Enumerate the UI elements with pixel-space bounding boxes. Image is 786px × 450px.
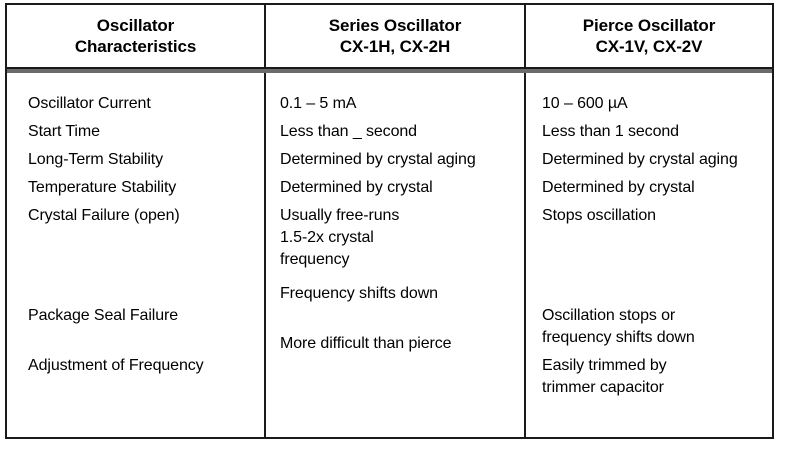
table-header-row: Oscillator Characteristics Series Oscill…: [7, 5, 772, 67]
column-pierce-oscillator: 10 – 600 µA Less than 1 second Determine…: [524, 73, 772, 439]
column-header-line-1: Oscillator: [97, 15, 174, 36]
column-header-line-2: CX-1H, CX-2H: [340, 36, 450, 57]
column-header-line-2: CX-1V, CX-2V: [596, 36, 703, 57]
oscillator-comparison-table: Oscillator Characteristics Series Oscill…: [5, 3, 774, 439]
column-header-series-oscillator: Series Oscillator CX-1H, CX-2H: [264, 5, 524, 67]
column-oscillator-characteristics: Oscillator Current Start Time Long-Term …: [7, 73, 264, 439]
table-cell-pierce-value: 10 – 600 µA: [542, 93, 772, 115]
table-cell-characteristic: Temperature Stability: [28, 177, 264, 199]
table-cell-series-value: Determined by crystal aging: [280, 149, 524, 171]
table-cell-series-value: Usually free-runs 1.5-2x crystal frequen…: [280, 205, 524, 271]
table-cell-series-value: Less than _ second: [280, 121, 524, 143]
column-header-oscillator-characteristics: Oscillator Characteristics: [7, 5, 264, 67]
table-cell-series-value: Determined by crystal: [280, 177, 524, 199]
column-header-line-1: Series Oscillator: [329, 15, 461, 36]
table-cell-characteristic: Package Seal Failure: [28, 305, 264, 327]
column-header-pierce-oscillator: Pierce Oscillator CX-1V, CX-2V: [524, 5, 772, 67]
table-cell-pierce-value: Determined by crystal aging: [542, 149, 772, 171]
table-body: Oscillator Current Start Time Long-Term …: [7, 73, 772, 439]
table-cell-series-value: Frequency shifts down: [280, 283, 524, 305]
column-header-line-1: Pierce Oscillator: [583, 15, 715, 36]
column-series-oscillator: 0.1 – 5 mA Less than _ second Determined…: [264, 73, 524, 439]
table-cell-characteristic: Adjustment of Frequency: [28, 355, 264, 377]
table-cell-series-value: More difficult than pierce: [280, 333, 524, 355]
table-cell-pierce-value: Stops oscillation: [542, 205, 772, 227]
table-cell-pierce-value: Easily trimmed by trimmer capacitor: [542, 355, 772, 399]
table-cell-characteristic: Start Time: [28, 121, 264, 143]
table-cell-pierce-value: Determined by crystal: [542, 177, 772, 199]
table-cell-pierce-value: Oscillation stops or frequency shifts do…: [542, 305, 772, 349]
table-cell-characteristic: Crystal Failure (open): [28, 205, 264, 227]
table-cell-pierce-value: Less than 1 second: [542, 121, 772, 143]
column-header-line-2: Characteristics: [75, 36, 196, 57]
table-cell-series-value: 0.1 – 5 mA: [280, 93, 524, 115]
table-cell-characteristic: Oscillator Current: [28, 93, 264, 115]
table-cell-characteristic: Long-Term Stability: [28, 149, 264, 171]
